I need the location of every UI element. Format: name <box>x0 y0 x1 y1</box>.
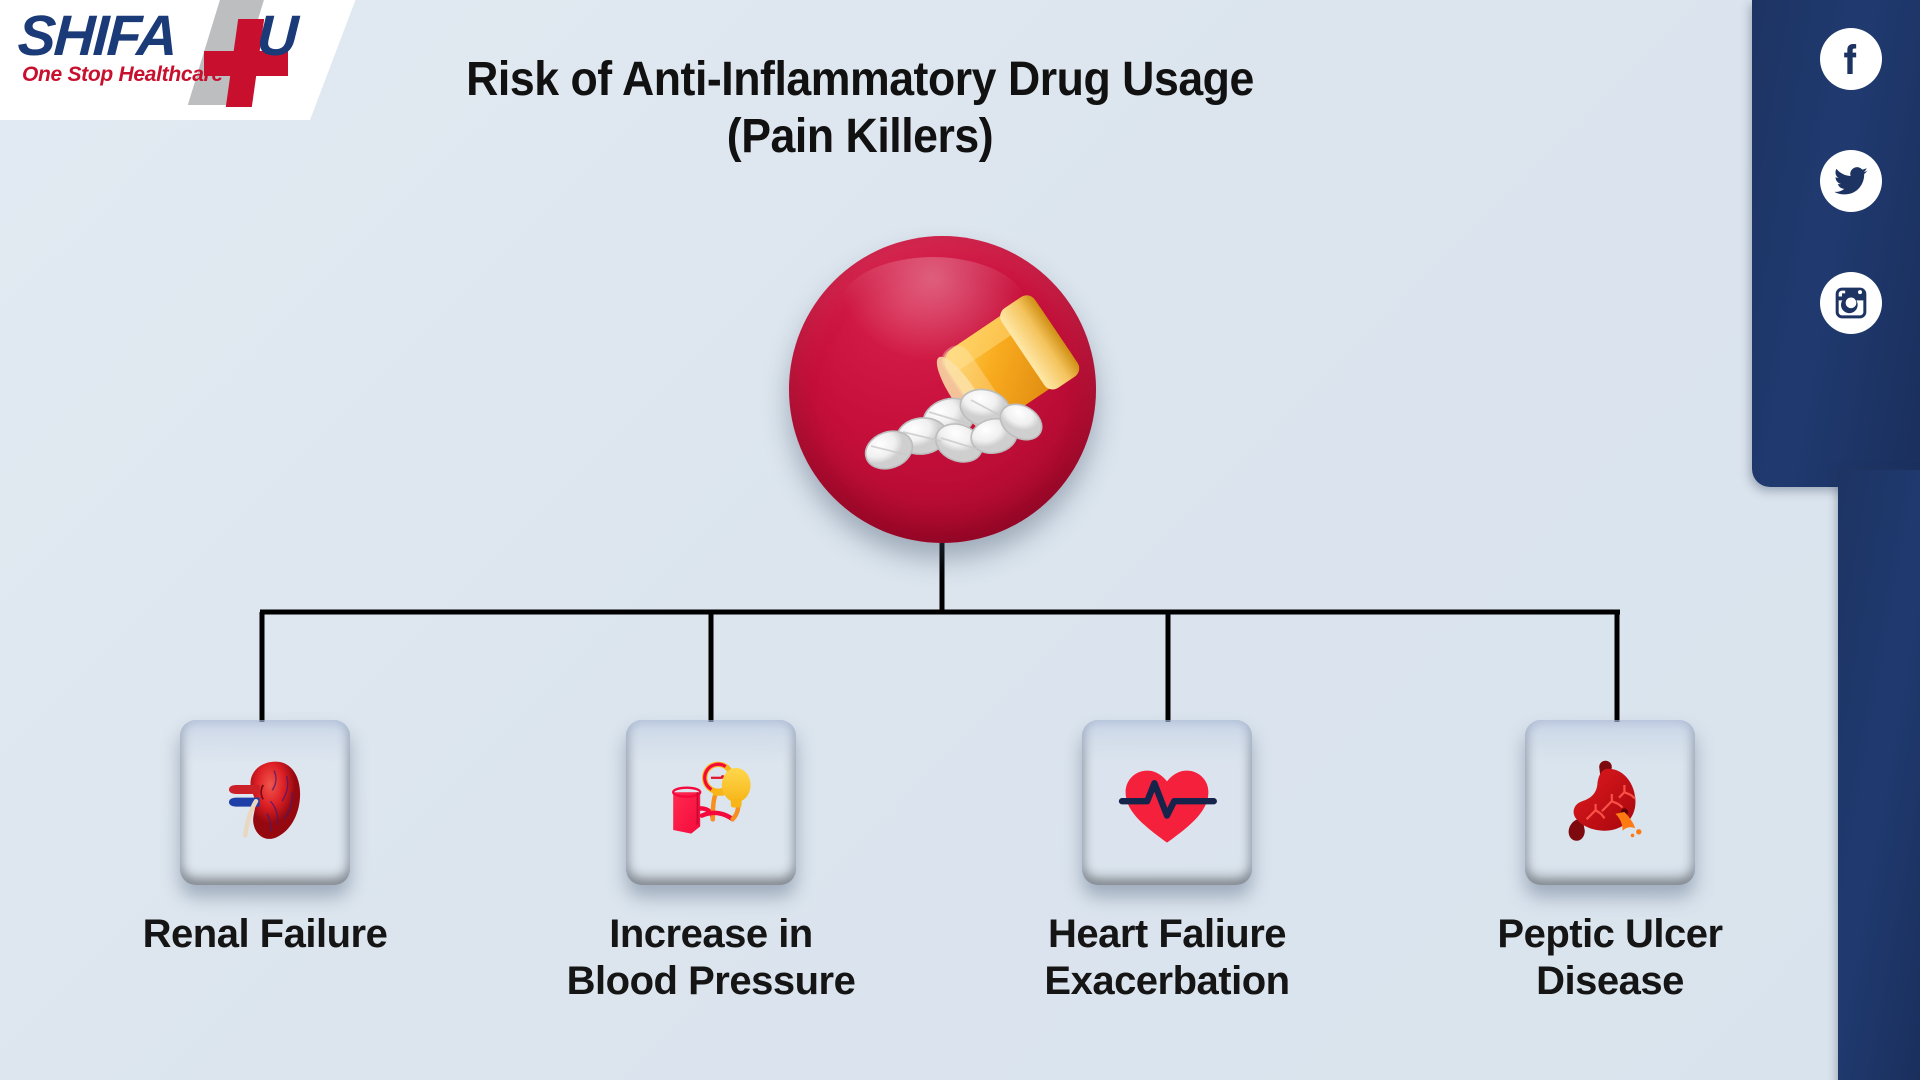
risk-label: Increase in Blood Pressure <box>546 911 876 1005</box>
facebook-icon <box>1831 39 1871 79</box>
risk-node-heart-failure[interactable]: Heart Faliure Exacerbation <box>1002 720 1332 1005</box>
risk-label: Heart Faliure Exacerbation <box>1002 911 1332 1005</box>
risk-label: Renal Failure <box>100 911 430 958</box>
title-line-2: (Pain Killers) <box>367 109 1353 166</box>
logo-suffix: U <box>255 3 300 69</box>
stomach-ulcer-icon <box>1556 749 1664 857</box>
spilled-pill-bottle-icon <box>789 236 1096 543</box>
risk-node-renal-failure[interactable]: Renal Failure <box>100 720 430 958</box>
blood-pressure-cuff-icon <box>657 749 765 857</box>
social-media-rail <box>1740 0 1920 560</box>
risk-tile-renal-failure[interactable] <box>180 720 350 885</box>
logo-wordmark: SHIFA <box>16 3 177 69</box>
page-title: Risk of Anti-Inflammatory Drug Usage (Pa… <box>367 52 1353 165</box>
risk-tile-blood-pressure[interactable] <box>626 720 796 885</box>
central-hub-pill-bottle <box>789 236 1096 543</box>
risk-node-blood-pressure[interactable]: Increase in Blood Pressure <box>546 720 876 1005</box>
logo-tagline: One Stop Healthcare <box>22 63 223 87</box>
social-rail-tail <box>1838 470 1920 1080</box>
logo-artwork: SHIFA U One Stop Healthcare <box>18 0 348 107</box>
infographic-canvas: SHIFA U One Stop Healthcare Risk of Anti… <box>0 0 1920 1080</box>
twitter-icon <box>1831 161 1871 201</box>
heart-pulse-icon <box>1113 749 1221 857</box>
title-line-1: Risk of Anti-Inflammatory Drug Usage <box>466 53 1254 106</box>
risk-label: Peptic Ulcer Disease <box>1445 911 1775 1005</box>
instagram-button[interactable] <box>1820 272 1882 334</box>
facebook-button[interactable] <box>1820 28 1882 90</box>
risk-tile-peptic-ulcer[interactable] <box>1525 720 1695 885</box>
twitter-button[interactable] <box>1820 150 1882 212</box>
kidney-icon <box>211 749 319 857</box>
risk-tile-heart-failure[interactable] <box>1082 720 1252 885</box>
risk-node-peptic-ulcer[interactable]: Peptic Ulcer Disease <box>1445 720 1775 1005</box>
shifa4u-logo[interactable]: SHIFA U One Stop Healthcare <box>0 0 360 120</box>
instagram-icon <box>1831 283 1871 323</box>
